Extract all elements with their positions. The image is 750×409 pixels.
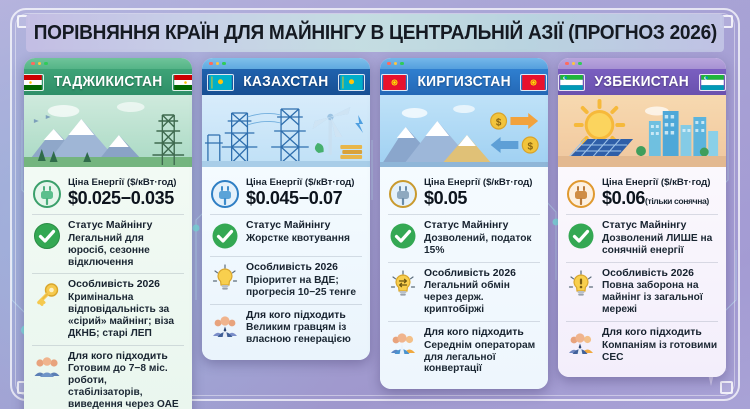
row-audience: Для кого підходить Готовим до 7−8 міс. р… <box>32 345 184 409</box>
key-icon <box>32 280 62 310</box>
status-label: Статус Майнінгу <box>246 220 362 232</box>
window-dot-yellow <box>572 62 576 66</box>
row-audience: Для кого підходить Компаніям із готовими… <box>566 321 718 369</box>
price-label: Ціна Енергії ($/кВт·год) <box>424 178 540 189</box>
tajikistan-flag-icon <box>24 74 44 91</box>
people-group-icon <box>32 352 62 382</box>
check-circle-icon <box>388 221 418 251</box>
status-label: Статус Майнінгу <box>424 220 540 232</box>
check-circle-icon <box>32 221 62 251</box>
country-card-uzbekistan[interactable]: УЗБЕКИСТАН <box>558 58 726 377</box>
audience-label: Для кого підходить <box>246 310 362 322</box>
status-value: Дозволений ЛИШЕ на сонячній енергії <box>602 233 718 257</box>
window-dot-yellow <box>38 62 42 66</box>
status-value: Жорстке квотування <box>246 233 362 245</box>
people-group-icon <box>566 328 596 358</box>
price-note: (тільки сонячна) <box>645 196 709 206</box>
country-title-bar: КАЗАХСТАН <box>202 69 370 95</box>
kyrgyzstan-flag-icon-right <box>520 74 547 91</box>
page-title: ПОРІВНЯННЯ КРАЇН ДЛЯ МАЙНІНГУ В ЦЕНТРАЛЬ… <box>33 23 716 44</box>
feature-label: Особливість 2026 <box>602 268 718 280</box>
status-label: Статус Майнінгу <box>68 220 184 232</box>
window-dot-yellow <box>216 62 220 66</box>
title-band: ПОРІВНЯННЯ КРАЇН ДЛЯ МАЙНІНГУ В ЦЕНТРАЛЬ… <box>26 14 724 52</box>
row-feature: Особливість 2026 Пріоритет на ВДЕ; прогр… <box>210 256 362 304</box>
window-dot-green <box>44 62 48 66</box>
row-price: Ціна Енергії ($/кВт·год) $0.06(тільки со… <box>566 173 718 214</box>
hero-illustration-mountains-exchange: $ $ <box>380 95 548 167</box>
audience-label: Для кого підходить <box>68 351 184 363</box>
window-dot-red <box>31 62 35 66</box>
country-cards-row: ТАДЖИКИСТАН <box>24 58 726 409</box>
feature-label: Особливість 2026 <box>246 262 362 274</box>
power-plug-icon <box>388 179 418 209</box>
feature-value: Кримінальна відповідальність за «сірий» … <box>68 292 184 340</box>
country-name: УЗБЕКИСТАН <box>595 74 689 90</box>
tajikistan-flag-icon-right <box>172 74 192 91</box>
row-feature: Особливість 2026 Повна заборона на майні… <box>566 262 718 321</box>
country-name: КИРГИЗСТАН <box>417 74 510 90</box>
hero-illustration-pylons-wind <box>202 95 370 167</box>
kyrgyzstan-flag-icon <box>381 74 408 91</box>
power-plug-icon <box>210 179 240 209</box>
country-name: КАЗАХСТАН <box>243 74 328 90</box>
card-body: Ціна Енергії ($/кВт·год) $0.06(тільки со… <box>558 167 726 377</box>
status-label: Статус Майнінгу <box>602 220 718 232</box>
power-plug-icon <box>32 179 62 209</box>
window-dot-red <box>565 62 569 66</box>
country-title-bar: КИРГИЗСТАН <box>380 69 548 95</box>
feature-label: Особливість 2026 <box>424 268 540 280</box>
window-chrome-bar <box>380 58 548 69</box>
country-card-tajikistan[interactable]: ТАДЖИКИСТАН <box>24 58 192 409</box>
window-dot-red <box>209 62 213 66</box>
row-audience: Для кого підходить Середнім операторам д… <box>388 321 540 380</box>
window-dot-green <box>222 62 226 66</box>
row-price: Ціна Енергії ($/кВт·год) $0.045−0.07 <box>210 173 362 214</box>
row-audience: Для кого підходить Великим гравцям із вл… <box>210 304 362 352</box>
window-chrome-bar <box>202 58 370 69</box>
kazakhstan-flag-icon-right <box>338 74 365 91</box>
uzbekistan-flag-icon-right <box>699 74 726 91</box>
kazakhstan-flag-icon <box>207 74 234 91</box>
country-title-bar: ТАДЖИКИСТАН <box>24 69 192 95</box>
row-feature: Особливість 2026 Легальний обмін через д… <box>388 262 540 321</box>
feature-label: Особливість 2026 <box>68 279 184 291</box>
hero-illustration-solar-city <box>558 95 726 167</box>
window-dot-red <box>387 62 391 66</box>
audience-value: Готовим до 7−8 міс. роботи, стабілізатор… <box>68 363 184 409</box>
check-circle-icon <box>566 221 596 251</box>
window-chrome-bar <box>24 58 192 69</box>
card-body: Ціна Енергії ($/кВт·год) $0.05 Статус Ма… <box>380 167 548 389</box>
hero-illustration-mountains-powerline <box>24 95 192 167</box>
audience-value: Великим гравцям із власною генерацією <box>246 322 362 346</box>
price-value-wrap: $0.06(тільки сонячна) <box>602 189 718 208</box>
svg-text:$: $ <box>496 117 502 128</box>
lightbulb-exchange-icon <box>388 269 418 299</box>
feature-value: Повна заборона на майнінг із загальної м… <box>602 280 718 316</box>
uzbekistan-flag-icon <box>558 74 585 91</box>
feature-value: Пріоритет на ВДЕ; прогресія 10−25 тенге <box>246 275 362 299</box>
audience-label: Для кого підходить <box>424 327 540 339</box>
window-dot-green <box>400 62 404 66</box>
lightbulb-icon <box>210 263 240 293</box>
row-price: Ціна Енергії ($/кВт·год) $0.05 <box>388 173 540 214</box>
price-value: $0.05 <box>424 189 540 208</box>
row-status: Статус Майнінгу Жорстке квотування <box>210 214 362 256</box>
country-name: ТАДЖИКИСТАН <box>54 74 163 90</box>
country-title-bar: УЗБЕКИСТАН <box>558 69 726 95</box>
power-plug-icon <box>566 179 596 209</box>
card-body: Ціна Енергії ($/кВт·год) $0.045−0.07 Ста… <box>202 167 370 360</box>
people-group-icon <box>210 311 240 341</box>
audience-value: Середнім операторам для легальної конвер… <box>424 340 540 376</box>
row-status: Статус Майнінгу Дозволений, податок 15% <box>388 214 540 262</box>
card-body: Ціна Енергії ($/кВт·год) $0.025−0.035 Ст… <box>24 167 192 409</box>
audience-label: Для кого підходить <box>602 327 718 339</box>
svg-text:$: $ <box>527 141 533 152</box>
window-dot-green <box>578 62 582 66</box>
price-value: $0.025−0.035 <box>68 189 184 208</box>
country-card-kyrgyzstan[interactable]: КИРГИЗСТАН <box>380 58 548 389</box>
window-dot-yellow <box>394 62 398 66</box>
price-label: Ціна Енергії ($/кВт·год) <box>68 178 184 189</box>
price-value: $0.045−0.07 <box>246 189 362 208</box>
status-value: Дозволений, податок 15% <box>424 233 540 257</box>
row-status: Статус Майнінгу Дозволений ЛИШЕ на соняч… <box>566 214 718 262</box>
country-card-kazakhstan[interactable]: КАЗАХСТАН <box>202 58 370 360</box>
status-value: Легальний для юросіб, сезонне відключенн… <box>68 233 184 269</box>
row-feature: Особливість 2026 Кримінальна відповідаль… <box>32 273 184 344</box>
lightbulb-warning-icon <box>566 269 596 299</box>
window-chrome-bar <box>558 58 726 69</box>
infographic-canvas: ПОРІВНЯННЯ КРАЇН ДЛЯ МАЙНІНГУ В ЦЕНТРАЛЬ… <box>0 0 750 409</box>
feature-value: Легальний обмін через держ. криптобіржі <box>424 280 540 316</box>
audience-value: Компаніям із готовими СЕС <box>602 340 718 364</box>
row-status: Статус Майнінгу Легальний для юросіб, се… <box>32 214 184 273</box>
row-price: Ціна Енергії ($/кВт·год) $0.025−0.035 <box>32 173 184 214</box>
price-label: Ціна Енергії ($/кВт·год) <box>246 178 362 189</box>
people-group-icon <box>388 328 418 358</box>
check-circle-icon <box>210 221 240 251</box>
price-value: $0.06 <box>602 188 645 208</box>
